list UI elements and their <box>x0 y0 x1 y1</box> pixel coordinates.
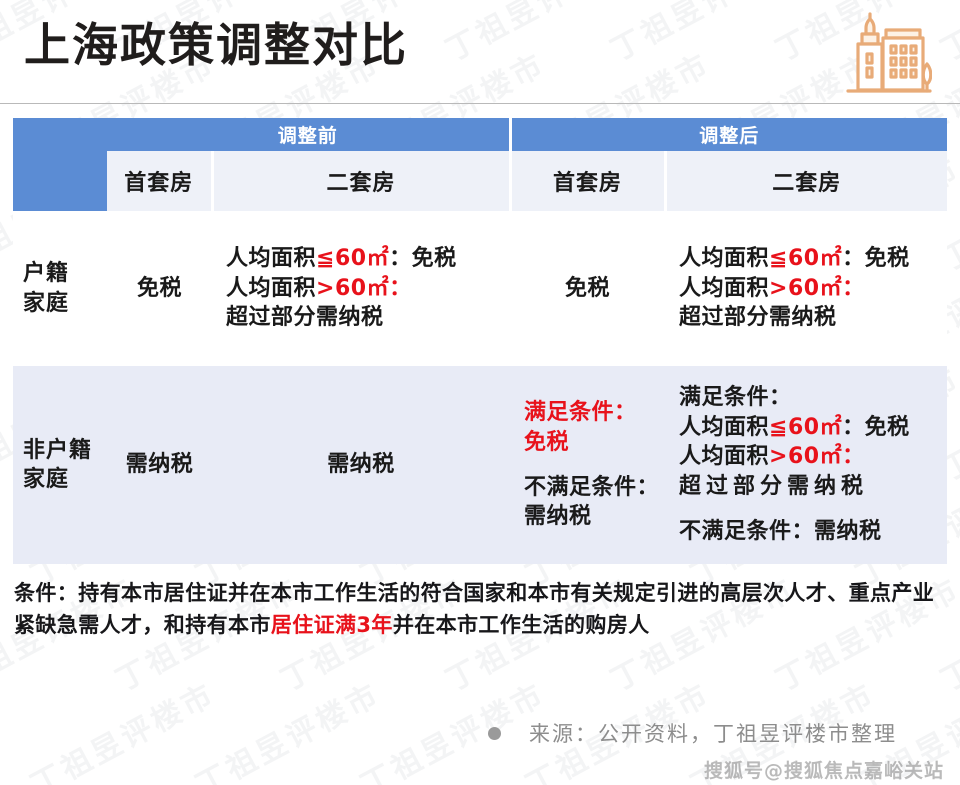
watermark-tile: 丁祖昱评楼市 <box>602 0 803 69</box>
subheader-before-first: 首套房 <box>107 151 212 211</box>
line-area-le60: 人均面积≦60㎡：免税 <box>679 244 947 273</box>
txt-area-label: 人均面积 <box>679 415 769 440</box>
txt-le60-red: ≦60㎡ <box>769 415 842 440</box>
watermark-tile: 丁祖昱评楼市 <box>22 670 223 785</box>
spacer <box>679 501 947 517</box>
cell-before-first-household: 免税 <box>107 211 212 366</box>
cell-after-second-non-household: 满足条件： 人均面积≦60㎡：免税 人均面积>60㎡： 超过部分需纳税 不满足条… <box>665 366 947 564</box>
txt-area-label-2: 人均面积 <box>226 276 316 301</box>
table-row-household: 户籍 家庭 免税 人均面积≦60㎡：免税 人均面积>60㎡： 超过部分需纳税 免… <box>13 211 947 366</box>
line-area-le60: 人均面积≦60㎡：免税 <box>226 244 510 273</box>
txt-area-label-2: 人均面积 <box>679 444 769 469</box>
txt-exempt: ：免税 <box>842 246 910 271</box>
cell-before-second-non-household: 需纳税 <box>212 366 510 564</box>
line-meet-condition: 满足条件： <box>524 398 665 427</box>
table-header-groups: 调整前 调整后 <box>13 118 947 151</box>
txt-gt60-red: >60㎡： <box>769 276 865 301</box>
source-line: 来源：公开资料，丁祖昱评楼市整理 <box>488 718 897 748</box>
cell-after-second-household: 人均面积≦60㎡：免税 人均面积>60㎡： 超过部分需纳税 <box>665 211 947 366</box>
page-title: 上海政策调整对比 <box>24 18 408 72</box>
header-divider <box>0 103 960 104</box>
line-area-gt60: 人均面积>60㎡： <box>226 274 510 303</box>
footnote-conditions: 条件：持有本市居住证并在本市工作生活的符合国家和本市有关规定引进的高层次人才、重… <box>14 578 944 641</box>
sohu-watermark: 搜狐号@搜狐焦点嘉峪关站 <box>704 756 944 783</box>
line-meet-condition: 满足条件： <box>679 383 947 412</box>
line-meet-result: 免税 <box>524 428 665 457</box>
city-buildings-icon <box>836 12 932 100</box>
txt-area-label-2: 人均面积 <box>679 276 769 301</box>
cell-after-first-household: 免税 <box>510 211 665 366</box>
table-header-subs: 首套房 二套房 首套房 二套房 <box>13 151 947 211</box>
subheader-after-second: 二套房 <box>665 151 947 211</box>
line-excess-taxed: 超过部分需纳税 <box>226 303 510 332</box>
line-fail-condition: 不满足条件：需纳税 <box>679 517 947 546</box>
row-label-line1: 户籍 <box>23 259 107 288</box>
line-area-le60: 人均面积≦60㎡：免税 <box>679 413 947 442</box>
watermark-tile: 丁祖昱评楼市 <box>437 0 638 69</box>
txt-area-label: 人均面积 <box>679 246 769 271</box>
txt-le60-red: ≦60㎡ <box>769 246 842 271</box>
line-fail-condition: 不满足条件： <box>524 473 665 502</box>
table-corner-cell <box>13 118 107 211</box>
line-area-gt60: 人均面积>60㎡： <box>679 442 947 471</box>
row-label-line1: 非户籍 <box>23 436 107 465</box>
spacer <box>524 457 665 473</box>
cell-before-first-non-household: 需纳税 <box>107 366 212 564</box>
watermark-tile: 丁祖昱评楼市 <box>932 0 960 69</box>
txt-exempt: ：免税 <box>389 246 457 271</box>
txt-le60-red: ≦60㎡ <box>316 246 389 271</box>
row-label-non-household: 非户籍 家庭 <box>13 366 107 564</box>
txt-gt60-red: >60㎡： <box>316 276 412 301</box>
footnote-highlight: 居住证满3年 <box>271 613 393 637</box>
line-fail-result: 需纳税 <box>524 502 665 531</box>
source-text: 来源：公开资料，丁祖昱评楼市整理 <box>529 718 897 748</box>
row-label-line2: 家庭 <box>23 289 107 318</box>
group-header-before: 调整前 <box>107 118 510 151</box>
group-header-after: 调整后 <box>510 118 947 151</box>
policy-comparison-table: 调整前 调整后 首套房 二套房 首套房 二套房 户籍 家庭 免税 人均面积 <box>13 118 947 564</box>
txt-area-label: 人均面积 <box>226 246 316 271</box>
bullet-dot-icon <box>488 727 501 740</box>
row-label-household: 户籍 家庭 <box>13 211 107 366</box>
footnote-part2: 并在本市工作生活的购房人 <box>393 613 650 637</box>
cell-before-second-household: 人均面积≦60㎡：免税 人均面积>60㎡： 超过部分需纳税 <box>212 211 510 366</box>
subheader-before-second: 二套房 <box>212 151 510 211</box>
txt-gt60-red: >60㎡： <box>769 444 865 469</box>
table-row-non-household: 非户籍 家庭 需纳税 需纳税 满足条件： 免税 不满足条件： 需纳税 满足条件：… <box>13 366 947 564</box>
row-label-line2: 家庭 <box>23 465 107 494</box>
subheader-after-first: 首套房 <box>510 151 665 211</box>
line-excess-taxed: 超过部分需纳税 <box>679 303 947 332</box>
cell-after-first-non-household: 满足条件： 免税 不满足条件： 需纳税 <box>510 366 665 564</box>
watermark-tile: 丁祖昱评楼市 <box>187 670 388 785</box>
line-area-gt60: 人均面积>60㎡： <box>679 274 947 303</box>
txt-exempt: ：免税 <box>842 415 910 440</box>
line-excess-taxed: 超过部分需纳税 <box>679 472 947 501</box>
